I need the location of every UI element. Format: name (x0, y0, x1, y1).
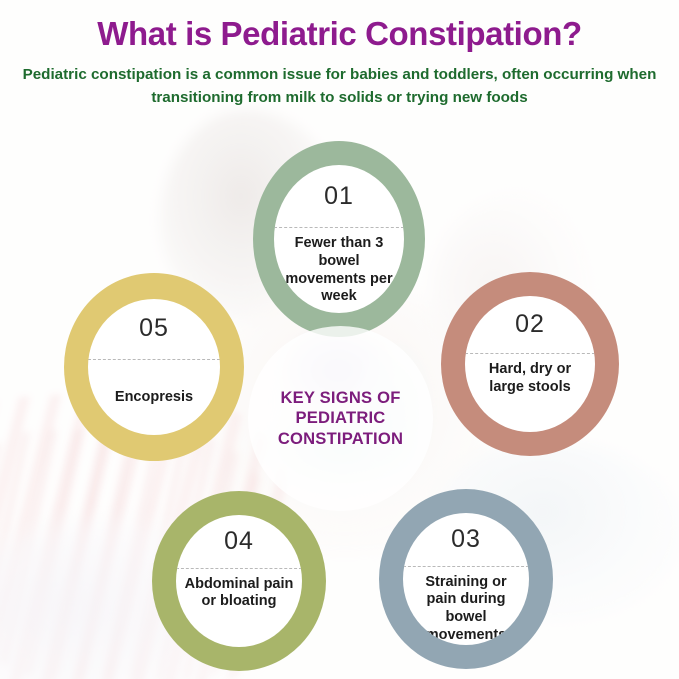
petal-text-03: Straining or pain during bowel movements (403, 574, 529, 645)
petal-number-05: 05 (139, 316, 169, 341)
center-circle: KEY SIGNS OF PEDIATRIC CONSTIPATION (248, 326, 433, 511)
petal-text-02: Hard, dry or large stools (465, 361, 595, 396)
petal-number-02: 02 (515, 312, 545, 337)
petal-number-01: 01 (324, 184, 354, 209)
petal-text-05: Encopresis (109, 389, 199, 407)
petal-inner-03: 03 Straining or pain during bowel moveme… (403, 513, 529, 645)
petal-inner-01: 01 Fewer than 3 bowel movements per week (274, 165, 404, 313)
petal-circle-02[interactable]: 02 Hard, dry or large stools (441, 272, 619, 456)
petal-circle-04[interactable]: 04 Abdominal pain or bloating (152, 491, 326, 671)
center-label: KEY SIGNS OF PEDIATRIC CONSTIPATION (248, 388, 433, 449)
petal-inner-02: 02 Hard, dry or large stools (465, 296, 595, 432)
petal-inner-04: 04 Abdominal pain or bloating (176, 515, 302, 647)
petal-circle-03[interactable]: 03 Straining or pain during bowel moveme… (379, 489, 553, 669)
petal-number-04: 04 (224, 529, 254, 554)
petal-text-01: Fewer than 3 bowel movements per week (274, 235, 404, 306)
petal-circle-05[interactable]: 05 Encopresis (64, 273, 244, 461)
infographic-canvas: What is Pediatric Constipation? Pediatri… (0, 0, 679, 679)
petal-text-04: Abdominal pain or bloating (176, 576, 302, 611)
petal-number-03: 03 (451, 527, 481, 552)
petal-circle-01[interactable]: 01 Fewer than 3 bowel movements per week (253, 141, 425, 337)
petal-inner-05: 05 Encopresis (88, 299, 220, 435)
